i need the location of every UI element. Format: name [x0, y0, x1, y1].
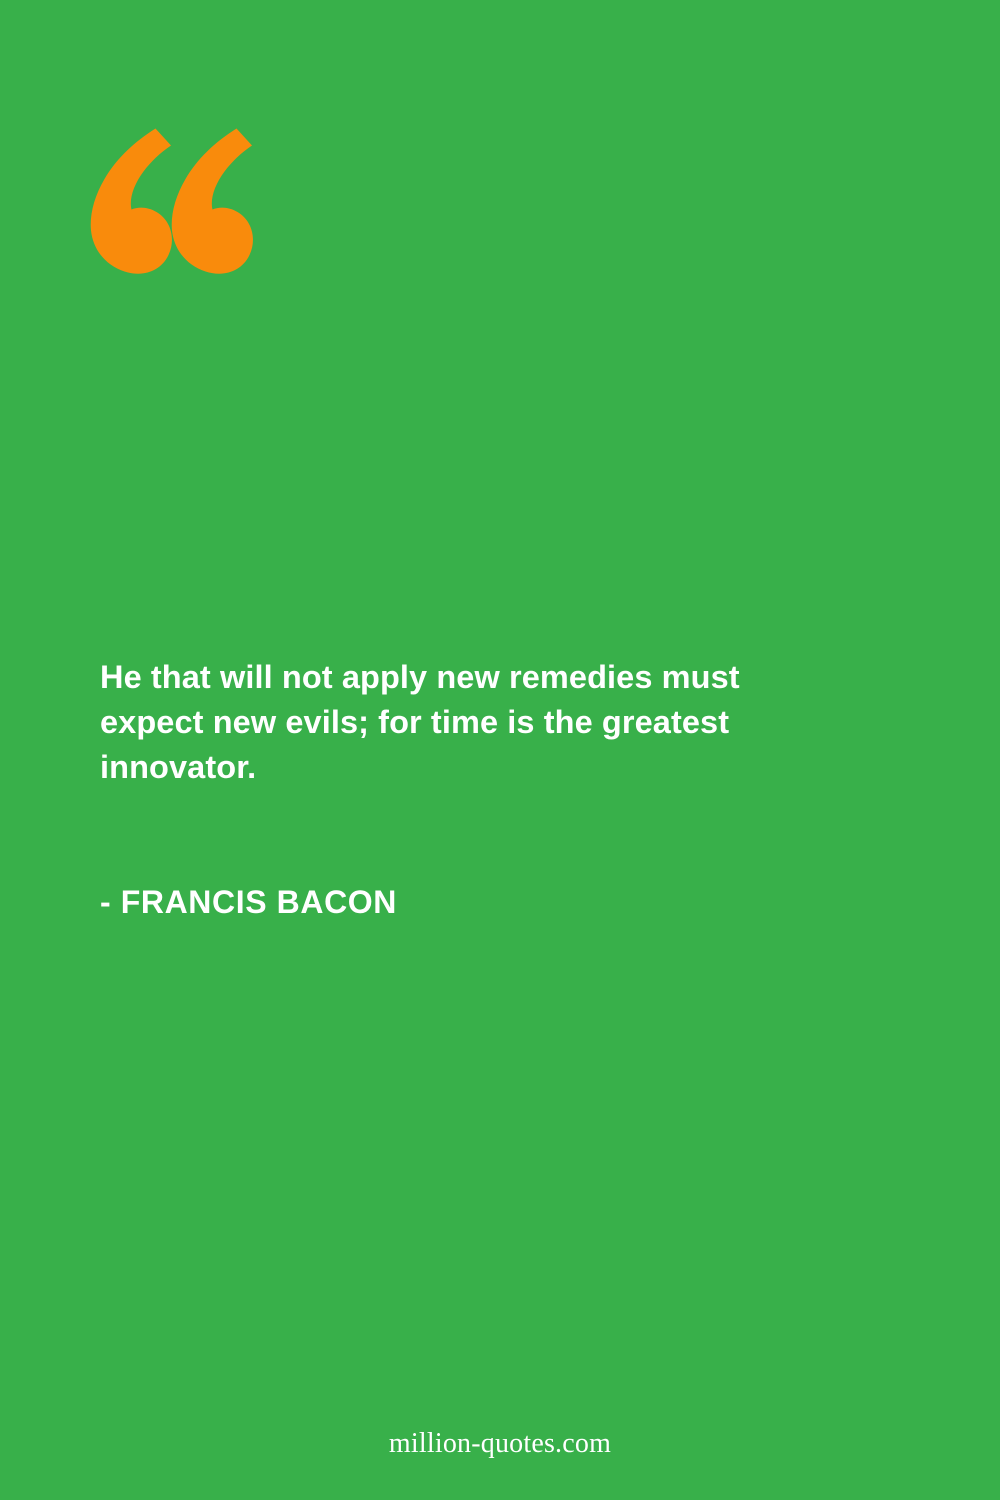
quote-text: He that will not apply new remedies must…	[100, 655, 780, 790]
opening-double-quote-icon	[88, 126, 254, 276]
quote-card: He that will not apply new remedies must…	[0, 0, 1000, 1500]
site-watermark: million-quotes.com	[0, 1428, 1000, 1460]
quote-attribution: - FRANCIS BACON	[100, 884, 397, 921]
